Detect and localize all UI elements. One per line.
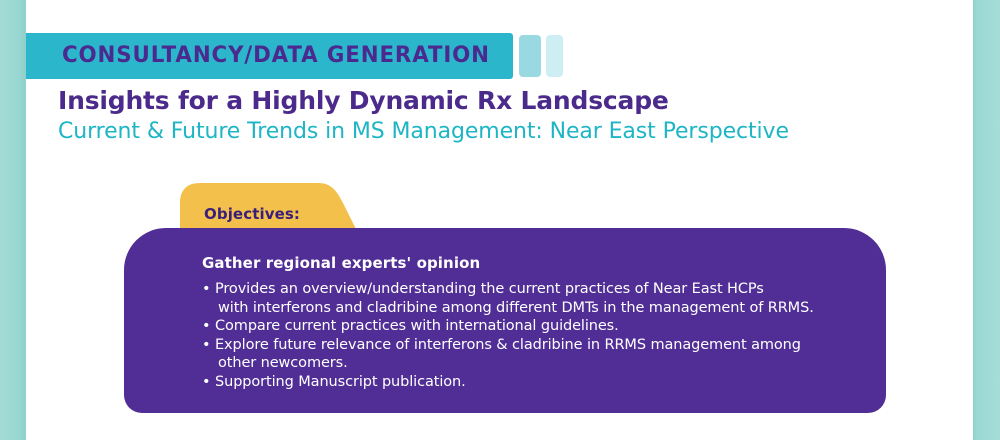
list-item: Supporting Manuscript publication. bbox=[202, 373, 860, 392]
bullet-line-primary: Explore future relevance of interferons … bbox=[215, 337, 801, 353]
objectives-tab-label: Objectives: bbox=[204, 205, 300, 223]
objectives-panel: Gather regional experts' opinion Provide… bbox=[124, 228, 886, 413]
bullet-line-continued: other newcomers. bbox=[215, 354, 860, 373]
page-subtitle: Current & Future Trends in MS Management… bbox=[58, 118, 938, 146]
bullet-line-primary: Provides an overview/understanding the c… bbox=[215, 281, 764, 297]
decorative-side-band-right bbox=[973, 0, 1000, 440]
banner-accent-block-1 bbox=[519, 35, 541, 77]
page-title: Insights for a Highly Dynamic Rx Landsca… bbox=[58, 86, 938, 116]
slide-canvas: CONSULTANCY/DATA GENERATION Insights for… bbox=[0, 0, 1000, 440]
decorative-side-band-left bbox=[0, 0, 26, 440]
section-banner: CONSULTANCY/DATA GENERATION bbox=[26, 33, 513, 79]
bullet-line-primary: Supporting Manuscript publication. bbox=[215, 374, 466, 390]
list-item: Explore future relevance of interferons … bbox=[202, 336, 860, 373]
section-banner-label: CONSULTANCY/DATA GENERATION bbox=[62, 45, 490, 67]
bullet-line-primary: Compare current practices with internati… bbox=[215, 318, 619, 334]
objectives-panel-heading: Gather regional experts' opinion bbox=[202, 254, 860, 272]
title-block: Insights for a Highly Dynamic Rx Landsca… bbox=[58, 86, 938, 146]
list-item: Compare current practices with internati… bbox=[202, 317, 860, 336]
list-item: Provides an overview/understanding the c… bbox=[202, 280, 860, 317]
banner-accent-block-2 bbox=[546, 35, 563, 77]
objectives-bullet-list: Provides an overview/understanding the c… bbox=[202, 280, 860, 391]
objectives-panel-content: Gather regional experts' opinion Provide… bbox=[202, 254, 860, 391]
bullet-line-continued: with interferons and cladribine among di… bbox=[215, 299, 860, 318]
